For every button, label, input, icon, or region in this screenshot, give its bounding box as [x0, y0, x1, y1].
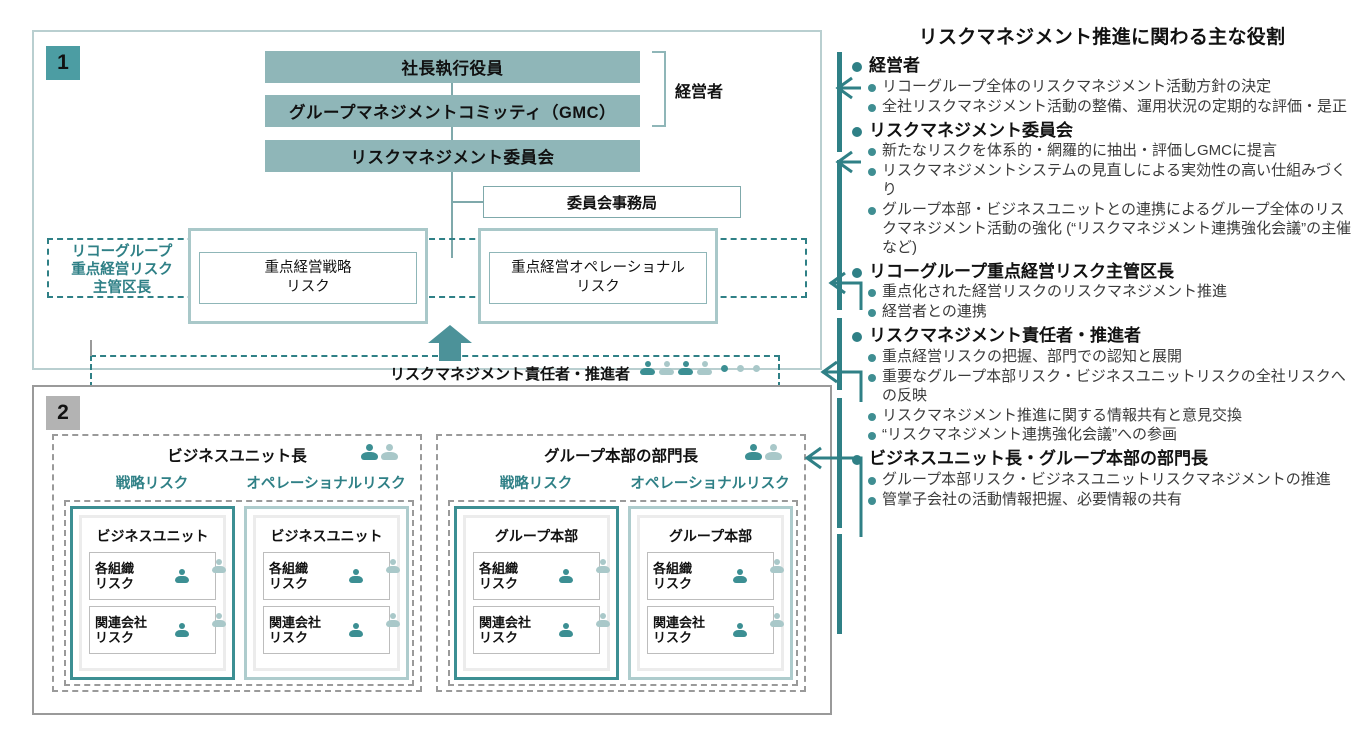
business-unit-strategy-box: ビジネスユニット 各組織リスク 関連会社リスク	[70, 506, 235, 680]
bullet-dot	[852, 332, 862, 342]
group-hq-col-strategy: 戦略リスク	[452, 472, 620, 493]
connector-rmc-secretariat	[451, 201, 483, 203]
role-bullet-text: グループ本部リスク・ビジネスユニットリスクマネジメントの推進	[882, 471, 1331, 490]
business-unit-name: ビジネスユニット	[89, 526, 216, 546]
bullet-dot	[868, 104, 876, 112]
person-icon	[733, 569, 747, 583]
role-bullet-item: 重点経営リスクの把握、部門での認知と展開	[852, 348, 1352, 367]
org-risk-row: 各組織リスク	[647, 552, 774, 600]
role-section: リスクマネジメント委員会新たなリスクを体系的・網羅的に抽出・評価しGMCに提言リ…	[852, 120, 1352, 258]
role-bullet-list: 重点経営リスクの把握、部門での認知と展開重要なグループ本部リスク・ビジネスユニッ…	[852, 348, 1352, 445]
role-bullet-item: “リスクマネジメント連携強化会議”への参画	[852, 426, 1352, 445]
org-risk-person-outside	[386, 559, 400, 573]
role-section: リスクマネジメント責任者・推進者重点経営リスクの把握、部門での認知と展開重要なグ…	[852, 325, 1352, 445]
role-section-heading: リコーグループ重点経営リスク主管区長	[852, 261, 1352, 283]
executive-bracket-label: 経営者	[675, 78, 723, 102]
bullet-dot	[868, 168, 876, 176]
org-risk-label: 各組織リスク	[269, 561, 308, 592]
roles-sections: 経営者リコーグループ全体のリスクマネジメント活動方針の決定全社リスクマネジメント…	[852, 55, 1352, 510]
box-gmc: グループマネジメントコミッティ（GMC）	[265, 95, 640, 127]
ellipsis-dot	[721, 365, 728, 372]
person-icon	[596, 613, 610, 627]
org-risk-person-inside	[175, 569, 189, 583]
group-hq-strategy-box: グループ本部 各組織リスク 関連会社リスク	[454, 506, 619, 680]
role-bullet-text: グループ本部・ビジネスユニットとの連携によるグループ全体のリスクマネジメント活動…	[882, 201, 1352, 258]
role-bullet-item: グループ本部・ビジネスユニットとの連携によるグループ全体のリスクマネジメント活動…	[852, 201, 1352, 258]
vbar-executive	[837, 52, 842, 152]
affiliate-risk-label: 関連会社リスク	[95, 615, 147, 646]
org-risk-label: 各組織リスク	[653, 561, 692, 592]
person-icon	[386, 613, 400, 627]
person-icon	[640, 361, 655, 375]
vbar-rmc	[837, 160, 842, 310]
role-section: 経営者リコーグループ全体のリスクマネジメント活動方針の決定全社リスクマネジメント…	[852, 55, 1352, 117]
role-section-heading: 経営者	[852, 55, 1352, 77]
affiliate-risk-person-outside	[596, 613, 610, 627]
person-icon	[678, 361, 693, 375]
org-risk-row: 各組織リスク	[473, 552, 600, 600]
bullet-dot	[868, 413, 876, 421]
section-1-badge: 1	[46, 46, 80, 80]
bullet-dot	[852, 127, 862, 137]
org-risk-row: 各組織リスク	[89, 552, 216, 600]
box-president: 社長執行役員	[265, 51, 640, 83]
person-icon	[349, 569, 363, 583]
person-icon	[349, 623, 363, 637]
affiliate-risk-person-inside	[175, 623, 189, 637]
role-heading-text: リスクマネジメント委員会	[869, 120, 1073, 142]
person-icon	[559, 569, 573, 583]
affiliate-risk-person-inside	[349, 623, 363, 637]
role-bullet-text: 経営者との連携	[882, 303, 987, 322]
diagram-root: 1 社長執行役員 グループマネジメントコミッティ（GMC） リスクマネジメント委…	[0, 0, 1360, 742]
role-section: リコーグループ重点経営リスク主管区長重点化された経営リスクのリスクマネジメント推…	[852, 261, 1352, 323]
bullet-dot	[868, 289, 876, 297]
business-unit-people-icons	[361, 444, 398, 460]
rm-officer-label: リスクマネジメント責任者・推進者	[90, 363, 630, 384]
connector-gmc-rmc	[451, 127, 453, 140]
role-bullet-text: リスクマネジメント推進に関する情報共有と意見交換	[882, 407, 1242, 426]
vbar-rm-officer	[837, 398, 842, 528]
role-bullet-item: リスクマネジメントシステムの見直しによる実効性の高い仕組みづくり	[852, 162, 1352, 200]
role-bullet-item: グループ本部リスク・ビジネスユニットリスクマネジメントの推進	[852, 471, 1352, 490]
group-hq-name: グループ本部	[647, 526, 774, 546]
roles-panel-title: リスクマネジメント推進に関わる主な役割	[852, 22, 1352, 49]
ellipsis-dot	[737, 365, 744, 372]
strategy-risk-label: 重点経営戦略リスク	[199, 252, 417, 304]
role-bullet-text: 全社リスクマネジメント活動の整備、運用状況の定期的な評価・是正	[882, 98, 1347, 117]
connector-left-stub	[90, 340, 92, 356]
role-bullet-text: リコーグループ全体のリスクマネジメント活動方針の決定	[882, 78, 1271, 97]
role-bullet-list: 新たなリスクを体系的・網羅的に抽出・評価しGMCに提言リスクマネジメントシステム…	[852, 142, 1352, 257]
role-bullet-list: リコーグループ全体のリスクマネジメント活動方針の決定全社リスクマネジメント活動の…	[852, 78, 1352, 117]
person-icon	[212, 613, 226, 627]
role-bullet-list: グループ本部リスク・ビジネスユニットリスクマネジメントの推進管掌子会社の活動情報…	[852, 471, 1352, 510]
ricoh-group-label: リコーグループ重点経営リスク主管区長	[52, 243, 192, 297]
affiliate-risk-label: 関連会社リスク	[653, 615, 705, 646]
org-risk-label: 各組織リスク	[95, 561, 134, 592]
org-risk-label: 各組織リスク	[479, 561, 518, 592]
role-bullet-text: 管掌子会社の活動情報把握、必要情報の共有	[882, 491, 1182, 510]
business-unit-col-operational: オペレーショナルリスク	[240, 472, 412, 493]
bullet-dot	[852, 455, 862, 465]
arrow-up-icon	[428, 325, 472, 361]
bullet-dot	[868, 354, 876, 362]
executive-bracket	[652, 51, 666, 127]
affiliate-risk-label: 関連会社リスク	[269, 615, 321, 646]
role-heading-text: ビジネスユニット長・グループ本部の部門長	[869, 448, 1208, 470]
bullet-dot	[868, 374, 876, 382]
affiliate-risk-label: 関連会社リスク	[479, 615, 531, 646]
role-bullet-item: 新たなリスクを体系的・網羅的に抽出・評価しGMCに提言	[852, 142, 1352, 161]
role-bullet-item: リコーグループ全体のリスクマネジメント活動方針の決定	[852, 78, 1352, 97]
box-committee-secretariat: 委員会事務局	[483, 186, 741, 218]
org-risk-person-inside	[733, 569, 747, 583]
business-unit-group: ビジネスユニット長 戦略リスク オペレーショナルリスク ビジネスユニット 各組織…	[52, 434, 422, 692]
role-bullet-text: 重点化された経営リスクのリスクマネジメント推進	[882, 283, 1227, 302]
bullet-dot	[868, 207, 876, 215]
org-risk-person-outside	[596, 559, 610, 573]
bullet-dot	[868, 309, 876, 317]
role-heading-text: リコーグループ重点経営リスク主管区長	[869, 261, 1174, 283]
org-risk-person-inside	[349, 569, 363, 583]
bullet-dot	[868, 148, 876, 156]
affiliate-risk-person-inside	[559, 623, 573, 637]
role-section-heading: ビジネスユニット長・グループ本部の部門長	[852, 448, 1352, 470]
affiliate-risk-row: 関連会社リスク	[473, 606, 600, 654]
role-section: ビジネスユニット長・グループ本部の部門長グループ本部リスク・ビジネスユニットリス…	[852, 448, 1352, 510]
affiliate-risk-row: 関連会社リスク	[89, 606, 216, 654]
bullet-dot	[868, 477, 876, 485]
bullet-dot	[868, 497, 876, 505]
affiliate-risk-person-outside	[212, 613, 226, 627]
person-icon	[386, 559, 400, 573]
role-bullet-item: 重要なグループ本部リスク・ビジネスユニットリスクの全社リスクへの反映	[852, 368, 1352, 406]
affiliate-risk-person-outside	[386, 613, 400, 627]
org-risk-row: 各組織リスク	[263, 552, 390, 600]
role-bullet-item: 管掌子会社の活動情報把握、必要情報の共有	[852, 491, 1352, 510]
role-heading-text: 経営者	[869, 55, 920, 77]
group-hq-group: グループ本部の部門長 戦略リスク オペレーショナルリスク グループ本部 各組織リ…	[436, 434, 806, 692]
role-heading-text: リスクマネジメント責任者・推進者	[869, 325, 1141, 347]
business-unit-name: ビジネスユニット	[263, 526, 390, 546]
role-bullet-text: 重点経営リスクの把握、部門での認知と展開	[882, 348, 1182, 367]
affiliate-risk-row: 関連会社リスク	[263, 606, 390, 654]
person-icon	[175, 569, 189, 583]
role-bullet-item: 重点化された経営リスクのリスクマネジメント推進	[852, 283, 1352, 302]
bullet-dot	[852, 62, 862, 72]
business-unit-operational-box: ビジネスユニット 各組織リスク 関連会社リスク	[244, 506, 409, 680]
operational-risk-label: 重点経営オペレーショナルリスク	[489, 252, 707, 304]
bullet-dot	[852, 268, 862, 278]
role-section-heading: リスクマネジメント責任者・推進者	[852, 325, 1352, 347]
person-icon	[381, 444, 398, 460]
person-icon	[361, 444, 378, 460]
role-bullet-text: “リスクマネジメント連携強化会議”への参画	[882, 426, 1177, 445]
person-icon	[697, 361, 712, 375]
role-bullet-text: リスクマネジメントシステムの見直しによる実効性の高い仕組みづくり	[882, 162, 1352, 200]
role-section-heading: リスクマネジメント委員会	[852, 120, 1352, 142]
person-icon	[733, 623, 747, 637]
org-risk-person-inside	[559, 569, 573, 583]
ellipsis-dot	[753, 365, 760, 372]
role-bullet-text: 新たなリスクを体系的・網羅的に抽出・評価しGMCに提言	[882, 142, 1277, 161]
box-risk-management-committee: リスクマネジメント委員会	[265, 140, 640, 172]
affiliate-risk-person-inside	[733, 623, 747, 637]
bullet-dot	[868, 432, 876, 440]
person-icon	[212, 559, 226, 573]
group-hq-name: グループ本部	[473, 526, 600, 546]
affiliate-risk-row: 関連会社リスク	[647, 606, 774, 654]
role-bullet-text: 重要なグループ本部リスク・ビジネスユニットリスクの全社リスクへの反映	[882, 368, 1352, 406]
person-icon	[659, 361, 674, 375]
role-bullet-item: 全社リスクマネジメント活動の整備、運用状況の定期的な評価・是正	[852, 98, 1352, 117]
person-icon	[596, 559, 610, 573]
section-2-badge: 2	[46, 396, 80, 430]
vbar-unit-heads	[837, 534, 842, 634]
person-icon	[175, 623, 189, 637]
role-bullet-item: リスクマネジメント推進に関する情報共有と意見交換	[852, 407, 1352, 426]
business-unit-col-strategy: 戦略リスク	[68, 472, 236, 493]
person-icon	[559, 623, 573, 637]
roles-panel: リスクマネジメント推進に関わる主な役割 経営者リコーグループ全体のリスクマネジメ…	[852, 22, 1352, 513]
org-risk-person-outside	[212, 559, 226, 573]
role-bullet-item: 経営者との連携	[852, 303, 1352, 322]
bullet-dot	[868, 84, 876, 92]
rm-officer-people-icons	[640, 361, 760, 375]
role-bullet-list: 重点化された経営リスクのリスクマネジメント推進経営者との連携	[852, 283, 1352, 322]
connector-pres-gmc	[451, 83, 453, 95]
vbar-ricoh	[837, 318, 842, 390]
